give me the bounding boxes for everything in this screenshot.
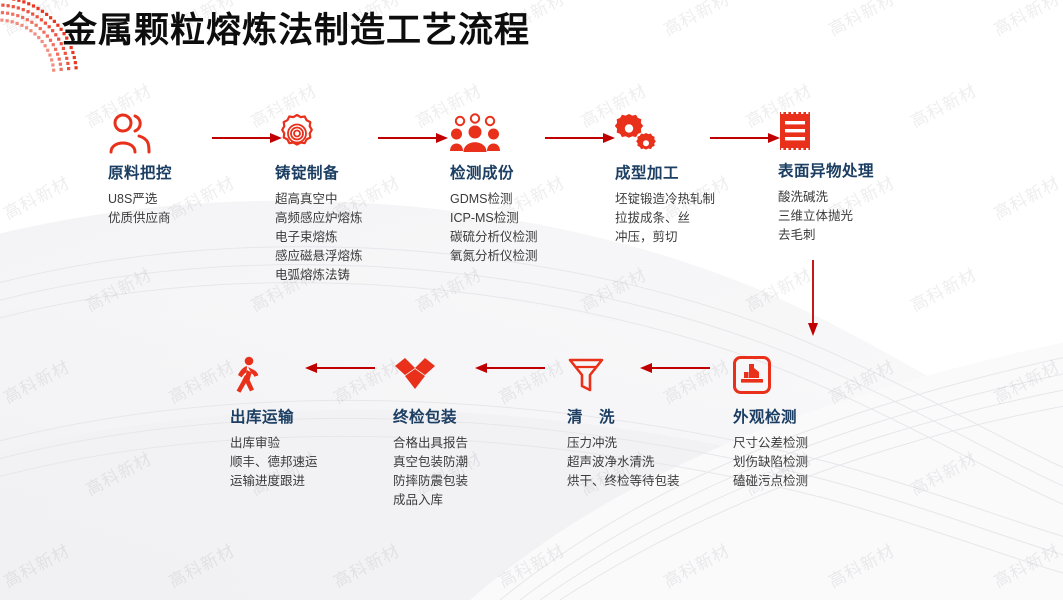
- header: 金属颗粒熔炼法制造工艺流程: [62, 4, 530, 58]
- node-detail-line: 坯锭锻造冷热轧制: [615, 190, 743, 209]
- flow-node-raw-material-control[interactable]: 原料把控 U8S严选优质供应商: [108, 112, 298, 228]
- node-detail-line: 电弧熔炼法铸: [275, 266, 403, 285]
- page-title: 金属颗粒熔炼法制造工艺流程: [62, 4, 530, 58]
- node-detail-line: 超声波净水清洗: [567, 453, 695, 472]
- node-detail-lines: 坯锭锻造冷热轧制拉拔成条、丝冲压，剪切: [615, 190, 743, 247]
- node-detail-line: 高频感应炉熔炼: [275, 209, 403, 228]
- node-detail-line: GDMS检测: [450, 190, 570, 209]
- document-lines-icon: [778, 110, 968, 156]
- node-detail-lines: U8S严选优质供应商: [108, 190, 228, 228]
- walking-person-icon: [230, 356, 420, 402]
- node-detail-line: 拉拔成条、丝: [615, 209, 743, 228]
- microscope-box-icon: [733, 356, 923, 402]
- node-title: 清 洗: [567, 408, 757, 427]
- node-title: 原料把控: [108, 164, 298, 183]
- node-detail-lines: 压力冲洗超声波净水清洗烘干、终检等待包装: [567, 434, 695, 491]
- flow-node-outbound-transport[interactable]: 出库运输 出库审验顺丰、德邦速运运输进度跟进: [230, 356, 420, 491]
- node-detail-line: 三维立体抛光: [778, 207, 898, 226]
- node-detail-line: 顺丰、德邦速运: [230, 453, 350, 472]
- node-title: 检测成份: [450, 164, 640, 183]
- node-detail-line: 冲压，剪切: [615, 228, 743, 247]
- process-flow-diagram: 原料把控 U8S严选优质供应商 铸锭制备 超高真空中高频感应炉熔炼电子束熔炼感应…: [0, 0, 1063, 600]
- node-detail-line: 运输进度跟进: [230, 472, 350, 491]
- node-detail-line: 酸洗碱洗: [778, 188, 898, 207]
- node-title: 成型加工: [615, 164, 805, 183]
- arrow-right-4: [710, 132, 780, 144]
- node-title: 外观检测: [733, 408, 923, 427]
- node-detail-lines: GDMS检测ICP-MS检测碳硫分析仪检测氧氮分析仪检测: [450, 190, 570, 266]
- node-title: 铸锭制备: [275, 164, 465, 183]
- node-detail-line: 出库审验: [230, 434, 350, 453]
- arrow-right-2: [378, 132, 448, 144]
- funnel-icon: [567, 356, 757, 402]
- arrow-right-1: [212, 132, 282, 144]
- node-detail-line: 成品入库: [393, 491, 513, 510]
- node-title: 终检包装: [393, 408, 583, 427]
- node-detail-lines: 出库审验顺丰、德邦速运运输进度跟进: [230, 434, 350, 491]
- node-detail-line: 碳硫分析仪检测: [450, 228, 570, 247]
- node-title: 出库运输: [230, 408, 420, 427]
- flow-node-cleaning[interactable]: 清 洗 压力冲洗超声波净水清洗烘干、终检等待包装: [567, 356, 757, 491]
- node-detail-line: 超高真空中: [275, 190, 403, 209]
- node-detail-line: 烘干、终检等待包装: [567, 472, 695, 491]
- flow-node-final-inspection-packaging[interactable]: 终检包装 合格出具报告真空包装防潮防摔防震包装成品入库: [393, 356, 583, 510]
- node-detail-line: 氧氮分析仪检测: [450, 247, 570, 266]
- node-detail-line: 优质供应商: [108, 209, 228, 228]
- node-detail-line: 去毛刺: [778, 226, 898, 245]
- node-title: 表面异物处理: [778, 162, 968, 181]
- node-detail-line: 感应磁悬浮熔炼: [275, 247, 403, 266]
- node-detail-lines: 超高真空中高频感应炉熔炼电子束熔炼感应磁悬浮熔炼电弧熔炼法铸: [275, 190, 403, 285]
- flow-node-appearance-inspection[interactable]: 外观检测 尺寸公差检测划伤缺陷检测磕碰污点检测: [733, 356, 923, 491]
- node-detail-line: ICP-MS检测: [450, 209, 570, 228]
- node-detail-line: 压力冲洗: [567, 434, 695, 453]
- node-detail-lines: 酸洗碱洗三维立体抛光去毛刺: [778, 188, 898, 245]
- node-detail-line: 电子束熔炼: [275, 228, 403, 247]
- arrow-down: [806, 260, 818, 336]
- arrow-right-3: [545, 132, 615, 144]
- flow-node-surface-treatment[interactable]: 表面异物处理 酸洗碱洗三维立体抛光去毛刺: [778, 110, 968, 245]
- open-box-icon: [393, 356, 583, 402]
- node-detail-line: U8S严选: [108, 190, 228, 209]
